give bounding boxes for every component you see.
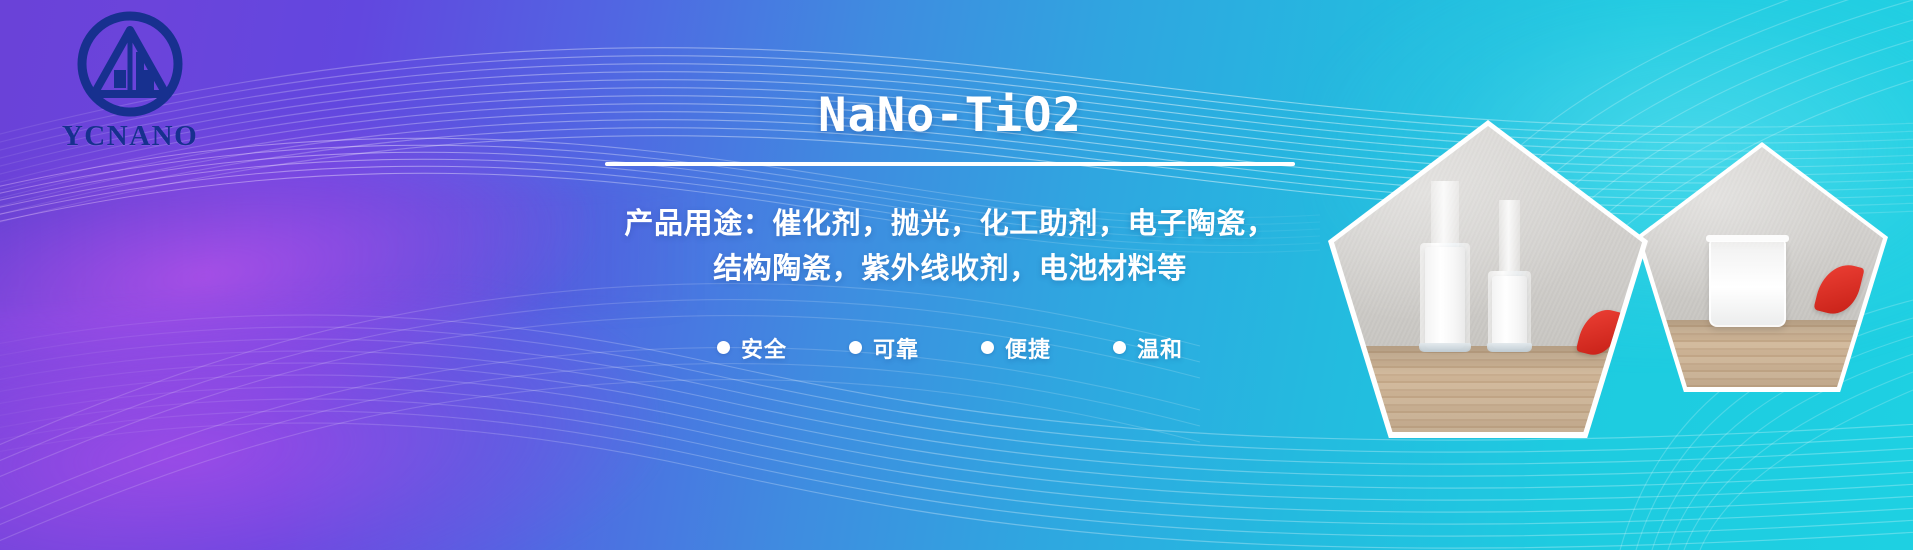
feature-item-convenient: 便捷 <box>981 332 1051 364</box>
feature-label: 便捷 <box>1005 332 1051 364</box>
brand-logo[interactable]: YCNANO <box>55 8 205 151</box>
dot-icon <box>981 341 994 354</box>
dot-icon <box>717 341 730 354</box>
product-description: 产品用途：催化剂，抛光，化工助剂，电子陶瓷， 结构陶瓷，紫外线收剂，电池材料等 <box>580 202 1320 292</box>
title-divider <box>605 162 1295 166</box>
description-line-1: 产品用途：催化剂，抛光，化工助剂，电子陶瓷， <box>580 202 1320 247</box>
feature-item-mild: 温和 <box>1113 332 1183 364</box>
feature-label: 可靠 <box>873 332 919 364</box>
dot-icon <box>1113 341 1126 354</box>
dot-icon <box>849 341 862 354</box>
feature-list: 安全 可靠 便捷 温和 <box>717 332 1183 364</box>
product-banner: YCNANO NaNo-TiO2 产品用途：催化剂，抛光，化工助剂，电子陶瓷， … <box>0 0 1913 550</box>
banner-content: NaNo-TiO2 产品用途：催化剂，抛光，化工助剂，电子陶瓷， 结构陶瓷，紫外… <box>480 0 1420 550</box>
feature-item-safe: 安全 <box>717 332 787 364</box>
ycnano-triangle-circle-logo-icon <box>74 8 186 120</box>
feature-item-reliable: 可靠 <box>849 332 919 364</box>
feature-label: 安全 <box>741 332 787 364</box>
brand-wordmark: YCNANO <box>62 122 198 151</box>
feature-label: 温和 <box>1137 332 1183 364</box>
page-title: NaNo-TiO2 <box>818 92 1082 139</box>
description-line-2: 结构陶瓷，紫外线收剂，电池材料等 <box>580 247 1320 292</box>
